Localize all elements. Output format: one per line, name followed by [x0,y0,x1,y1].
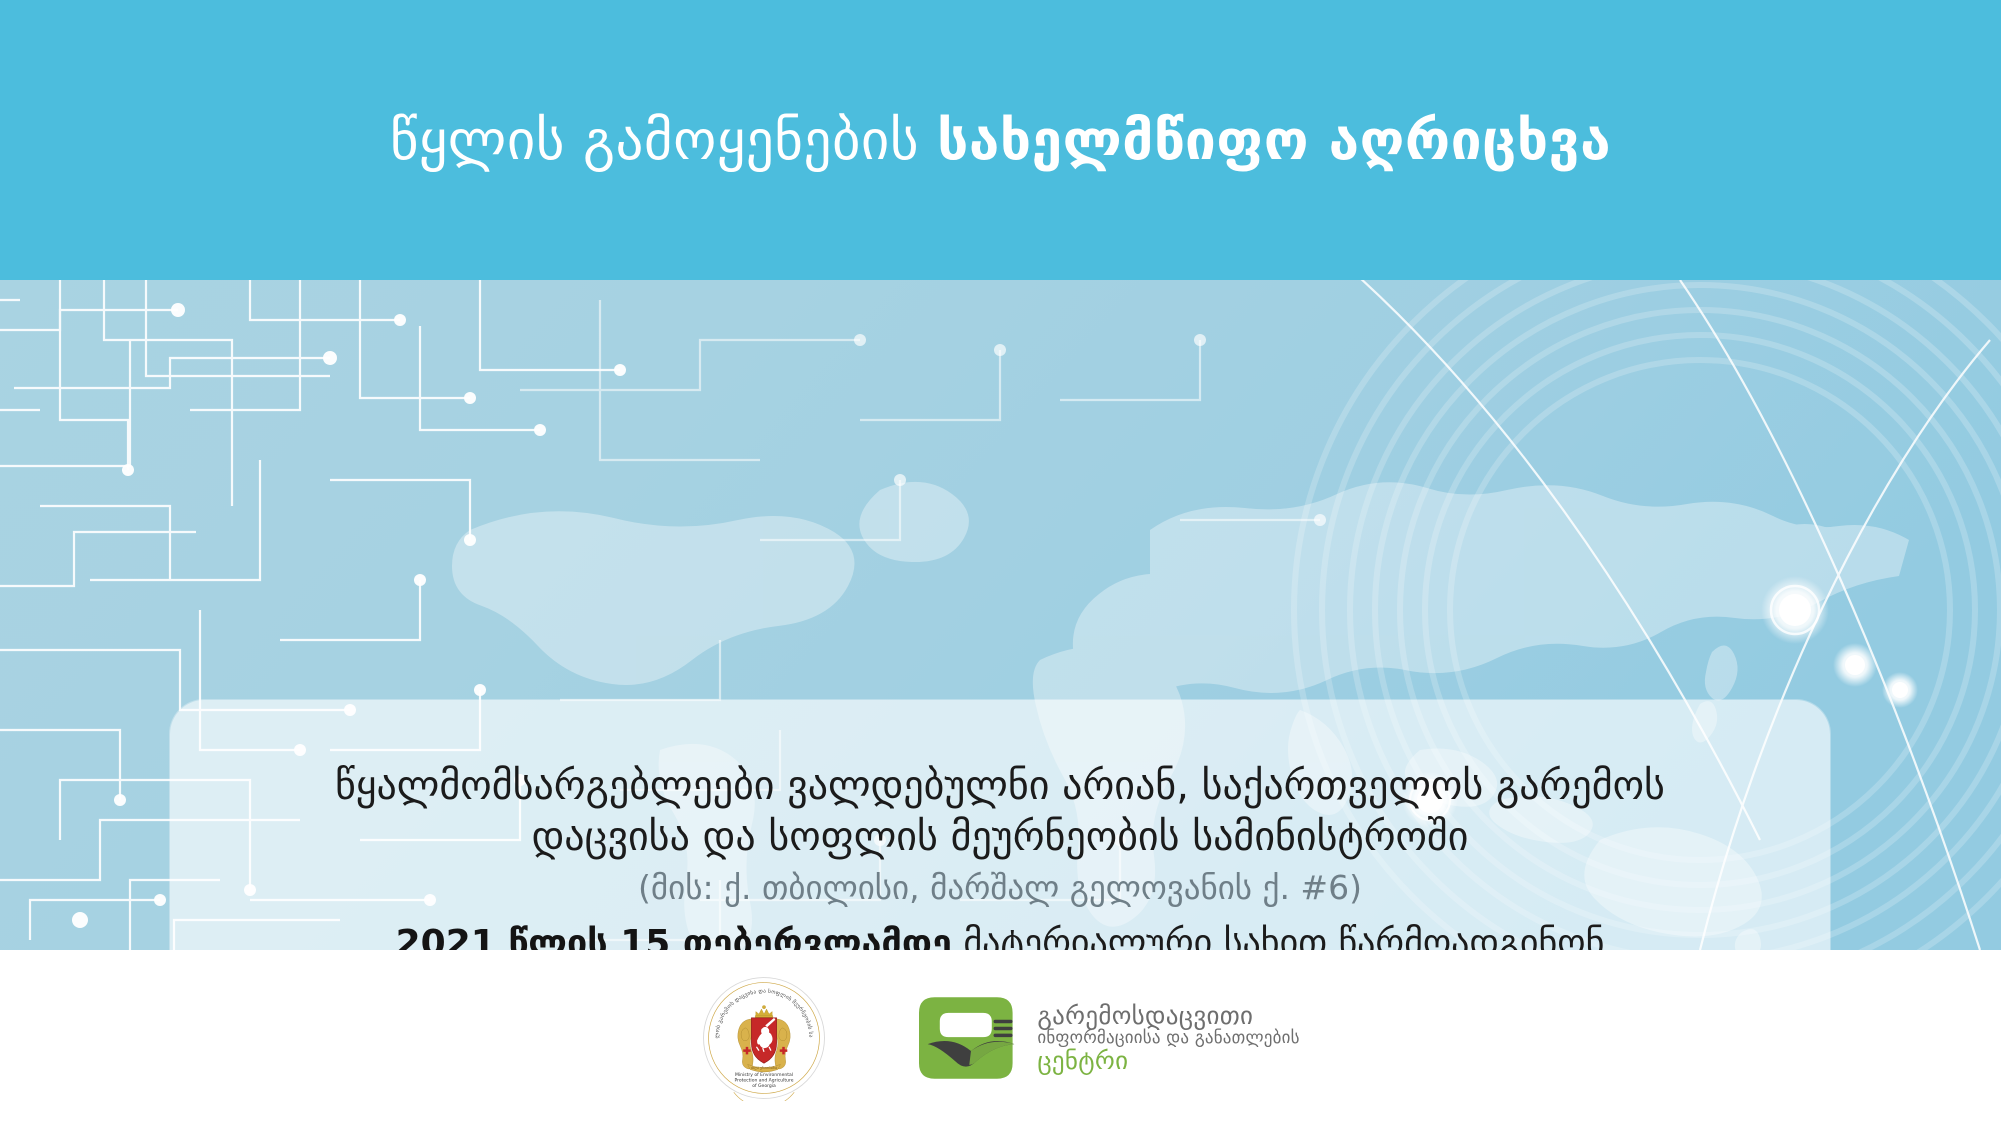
page-title-bold: სახელმწიფო აღრიცხვა [937,108,1611,172]
page-title: წყლის გამოყენების სახელმწიფო აღრიცხვა [390,113,1611,168]
eiec-line-1: გარემოსდაცვითი [1037,1002,1299,1029]
svg-text:ძალა ერთობაშია: ძალა ერთობაშია [751,1066,778,1070]
eiec-wordmark: გარემოსდაცვითი ინფორმაციისა და განათლები… [1037,1002,1299,1074]
eiec-line-2: ინფორმაციისა და განათლების [1037,1029,1299,1047]
card-deadline-line: 2021 წლის 15 თებერვლამდე მატერიალური სახ… [396,921,1605,950]
content-card: წყალმომსარგებლეები ვალდებულნი არიან, საქ… [170,700,1830,950]
deadline-rest: მატერიალური სახით წარმოადგინონ [952,923,1604,950]
ministry-seal-logo: საქართველოს გარემოს დაცვისა და სოფლის მე… [701,975,827,1101]
eiec-line-3: ცენტრი [1037,1047,1299,1074]
ministry-caption-en-3: of Georgia [753,1083,777,1089]
page-title-light: წყლის გამოყენების [390,108,937,172]
ministry-caption-en-1: Ministry of Environmental [735,1072,793,1078]
card-address-line: (მის: ქ. თბილისი, მარშალ გელოვანის ქ. #6… [638,867,1362,909]
ministry-caption-en-2: Protection and Agriculture [735,1077,794,1083]
header-band: წყლის გამოყენების სახელმწიფო აღრიცხვა [0,0,2001,280]
illustration-band: წყალმომსარგებლეები ვალდებულნი არიან, საქ… [0,280,2001,950]
card-line-1: წყალმომსარგებლეები ვალდებულნი არიან, საქ… [335,761,1665,812]
eiec-logo: გარემოსდაცვითი ინფორმაციისა და განათლები… [919,990,1299,1086]
slide-root: წყლის გამოყენების სახელმწიფო აღრიცხვა [0,0,2001,1126]
deadline-date: 2021 წლის 15 თებერვლამდე [396,923,952,950]
ministry-coat-of-arms-icon: საქართველოს გარემოს დაცვისა და სოფლის მე… [701,975,827,1101]
card-line-2: დაცვისა და სოფლის მეურნეობის სამინისტროშ… [532,812,1469,863]
eiec-book-mark-icon [919,990,1023,1086]
footer-logos: საქართველოს გარემოს დაცვისა და სოფლის მე… [0,950,2001,1126]
